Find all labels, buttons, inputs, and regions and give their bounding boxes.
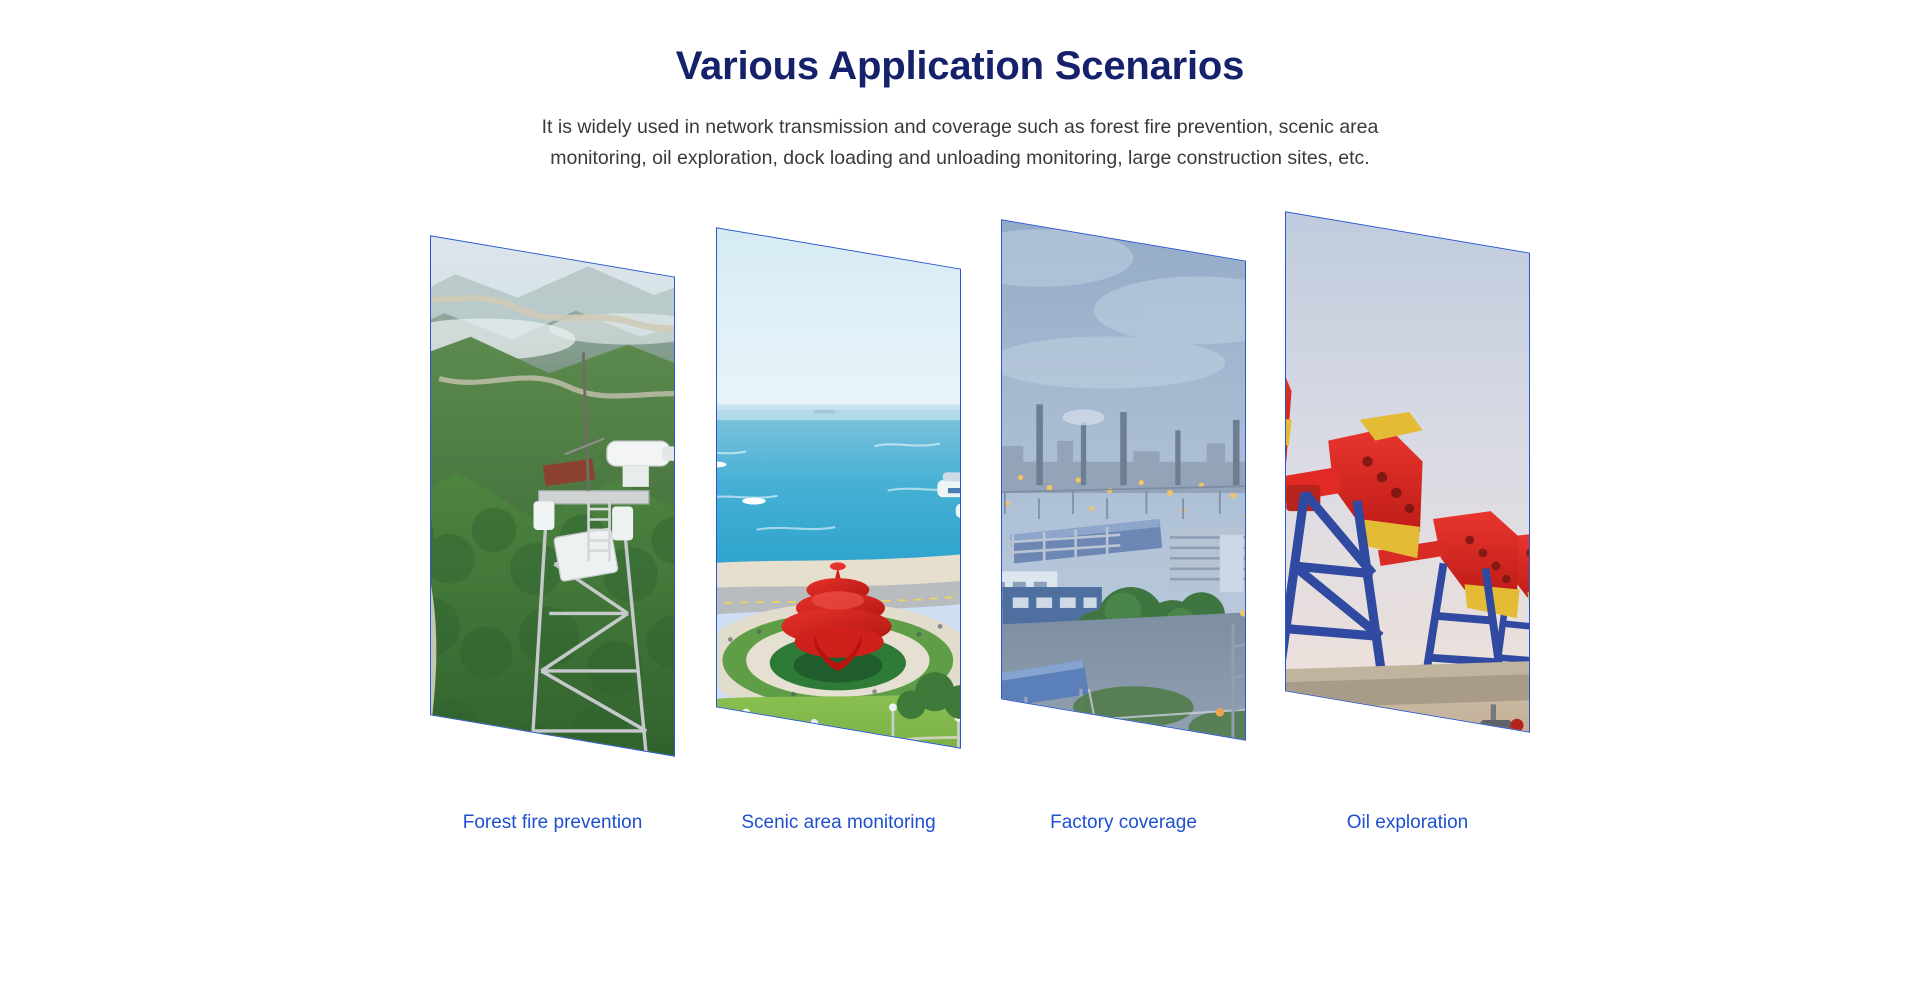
- scenario-card-gallery: Forest fire prevention: [0, 248, 1920, 868]
- oil-pumpjacks-photo: [1285, 211, 1530, 732]
- scenario-card-forest-fire-prevention[interactable]: Forest fire prevention: [430, 256, 675, 736]
- subtitle-line-2: monitoring, oil exploration, dock loadin…: [495, 143, 1425, 174]
- scenario-card-frame[interactable]: [1285, 211, 1530, 732]
- scenario-card-caption: Factory coverage: [1001, 812, 1246, 834]
- application-scenarios-page: Various Application Scenarios It is wide…: [0, 0, 1920, 997]
- page-subtitle: It is widely used in network transmissio…: [495, 112, 1425, 174]
- scenario-card-scenic-area-monitoring[interactable]: Scenic area monitoring: [716, 248, 961, 728]
- scenario-card-oil-exploration[interactable]: Oil exploration: [1285, 232, 1530, 712]
- scenario-card-caption: Oil exploration: [1285, 812, 1530, 834]
- scenario-card-frame[interactable]: [1001, 219, 1246, 740]
- petrochemical-plant-photo: [1001, 219, 1246, 740]
- scenario-card-frame[interactable]: [716, 227, 961, 748]
- forest-surveillance-tower-photo: [430, 235, 675, 756]
- seaside-square-sculpture-photo: [716, 227, 961, 748]
- page-header: Various Application Scenarios It is wide…: [0, 0, 1920, 174]
- scenario-card-factory-coverage[interactable]: Factory coverage: [1001, 240, 1246, 720]
- scenario-card-caption: Forest fire prevention: [430, 812, 675, 834]
- page-title: Various Application Scenarios: [0, 42, 1920, 90]
- subtitle-line-1: It is widely used in network transmissio…: [495, 112, 1425, 143]
- scenario-card-frame[interactable]: [430, 235, 675, 756]
- scenario-card-caption: Scenic area monitoring: [716, 812, 961, 834]
